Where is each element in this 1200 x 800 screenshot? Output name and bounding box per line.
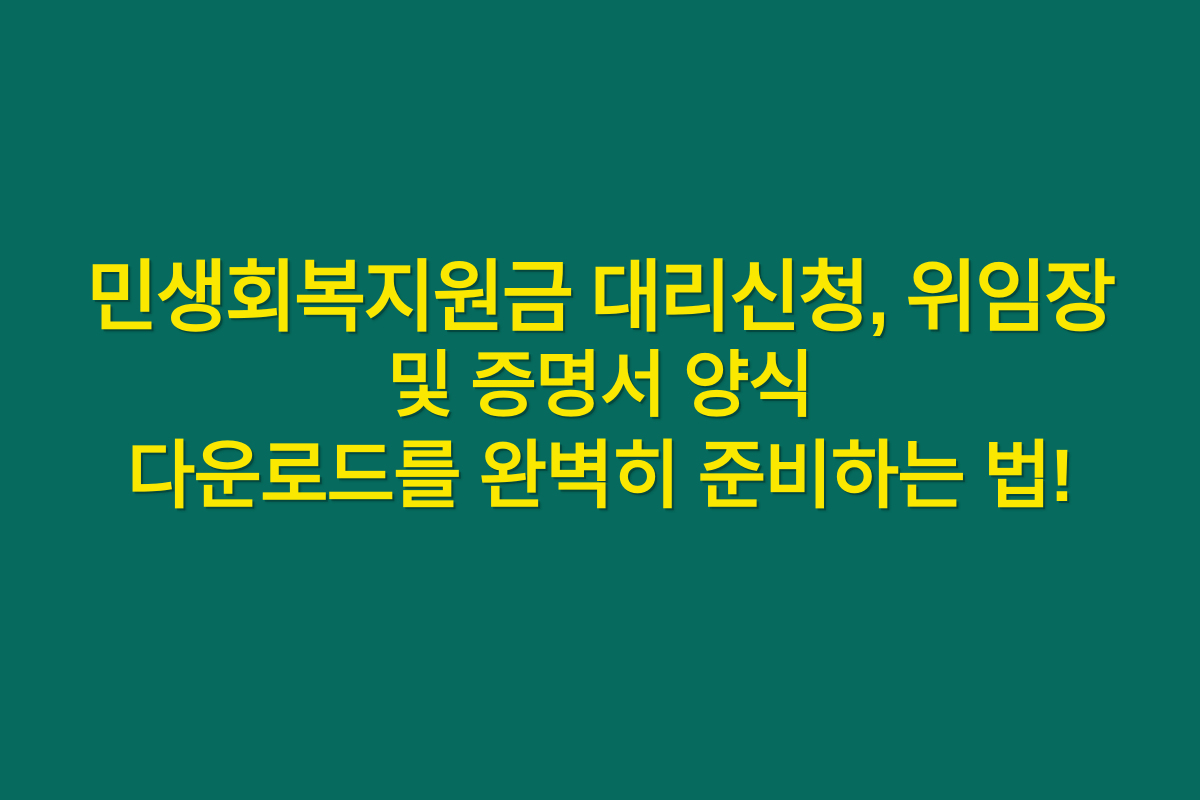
headline-title: 민생회복지원금 대리신청, 위임장 및 증명서 양식 다운로드를 완벽히 준비하…	[0, 251, 1200, 521]
headline-line-3: 다운로드를 완벽히 준비하는 법!	[0, 431, 1200, 521]
thumbnail-banner: 민생회복지원금 대리신청, 위임장 및 증명서 양식 다운로드를 완벽히 준비하…	[0, 0, 1200, 800]
headline-line-2: 및 증명서 양식	[0, 343, 1200, 431]
headline-line-1: 민생회복지원금 대리신청, 위임장	[0, 251, 1200, 343]
